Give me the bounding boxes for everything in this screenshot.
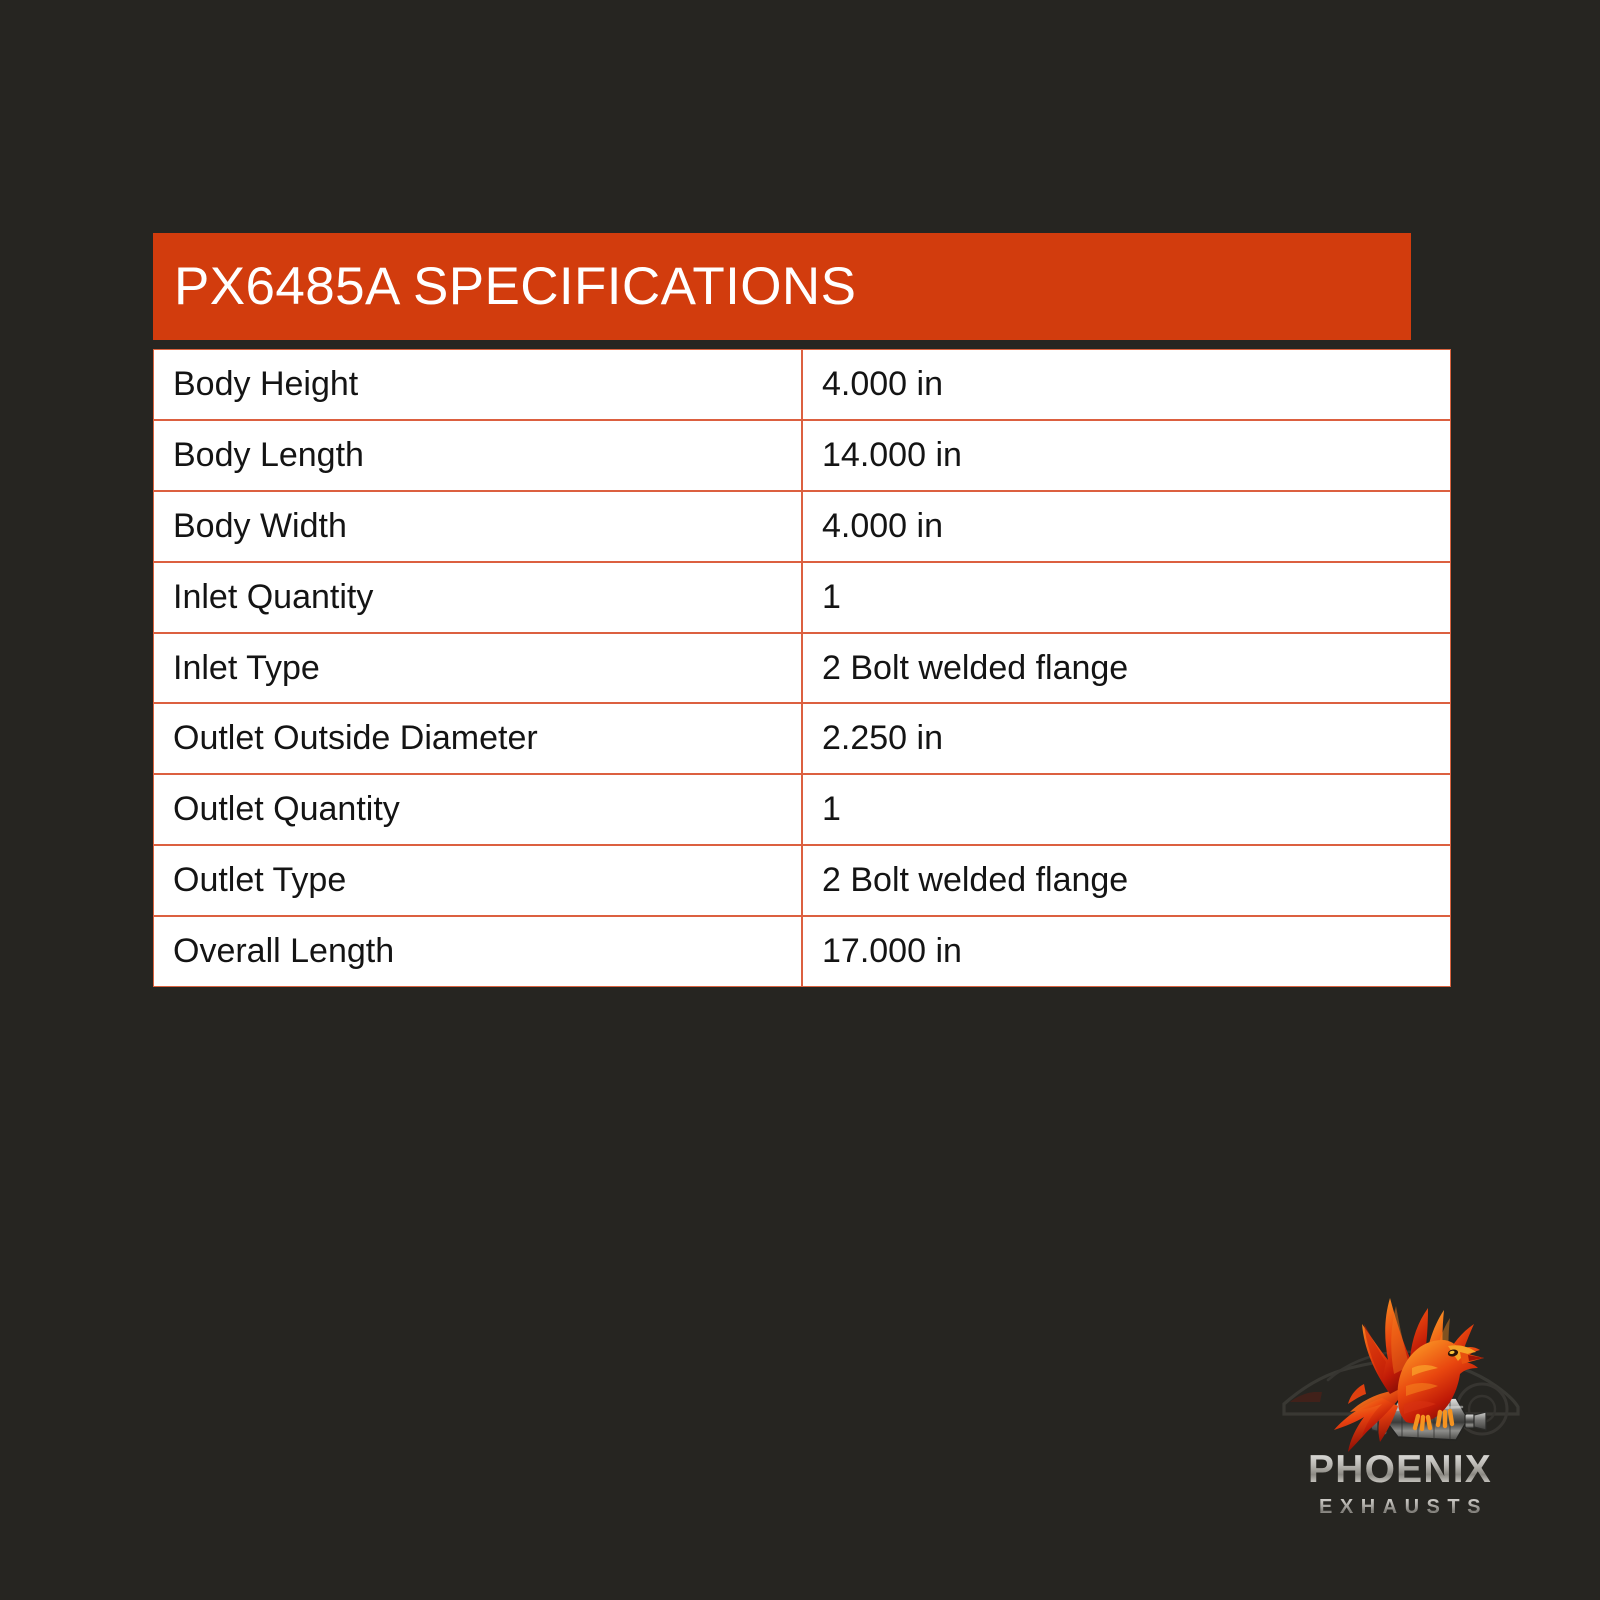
specifications-header: PX6485A SPECIFICATIONS bbox=[153, 233, 1411, 340]
phoenix-tail-flames-icon bbox=[1334, 1384, 1398, 1452]
spec-label: Inlet Type bbox=[154, 633, 803, 704]
spec-value: 4.000 in bbox=[802, 491, 1451, 562]
table-row: Outlet Quantity 1 bbox=[154, 774, 1451, 845]
table-row: Body Length 14.000 in bbox=[154, 420, 1451, 491]
spec-value: 17.000 in bbox=[802, 916, 1451, 987]
spec-label: Overall Length bbox=[154, 916, 803, 987]
spec-value: 2 Bolt welded flange bbox=[802, 633, 1451, 704]
spec-value: 2.250 in bbox=[802, 703, 1451, 774]
spec-label: Outlet Type bbox=[154, 845, 803, 916]
spec-label: Outlet Outside Diameter bbox=[154, 703, 803, 774]
table-row: Inlet Type 2 Bolt welded flange bbox=[154, 633, 1451, 704]
page-title: PX6485A SPECIFICATIONS bbox=[174, 260, 856, 313]
spec-value: 14.000 in bbox=[802, 420, 1451, 491]
table-row: Outlet Type 2 Bolt welded flange bbox=[154, 845, 1451, 916]
spec-label: Body Length bbox=[154, 420, 803, 491]
table-row: Body Height 4.000 in bbox=[154, 350, 1451, 421]
logo-brand-name: PHOENIX bbox=[1272, 1450, 1528, 1491]
table-row: Overall Length 17.000 in bbox=[154, 916, 1451, 987]
table-row: Outlet Outside Diameter 2.250 in bbox=[154, 703, 1451, 774]
brand-logo: PHOENIX EXHAUSTS bbox=[1272, 1276, 1528, 1526]
spec-label: Body Height bbox=[154, 350, 803, 421]
table-row: Body Width 4.000 in bbox=[154, 491, 1451, 562]
spec-value: 4.000 in bbox=[802, 350, 1451, 421]
spec-label: Body Width bbox=[154, 491, 803, 562]
spec-label: Outlet Quantity bbox=[154, 774, 803, 845]
spec-value: 1 bbox=[802, 774, 1451, 845]
specifications-card: PX6485A SPECIFICATIONS Body Height 4.000… bbox=[153, 233, 1411, 987]
logo-brand-subtitle: EXHAUSTS bbox=[1272, 1496, 1528, 1518]
spec-value: 2 Bolt welded flange bbox=[802, 845, 1451, 916]
header-table-divider bbox=[153, 340, 1411, 349]
phoenix-bird-on-muffler-icon bbox=[1272, 1276, 1528, 1462]
logo-wordmark: PHOENIX EXHAUSTS bbox=[1272, 1450, 1528, 1518]
table-row: Inlet Quantity 1 bbox=[154, 562, 1451, 633]
spec-value: 1 bbox=[802, 562, 1451, 633]
specifications-table-body: Body Height 4.000 in Body Length 14.000 … bbox=[154, 350, 1451, 987]
specifications-table: Body Height 4.000 in Body Length 14.000 … bbox=[153, 349, 1451, 987]
spec-label: Inlet Quantity bbox=[154, 562, 803, 633]
